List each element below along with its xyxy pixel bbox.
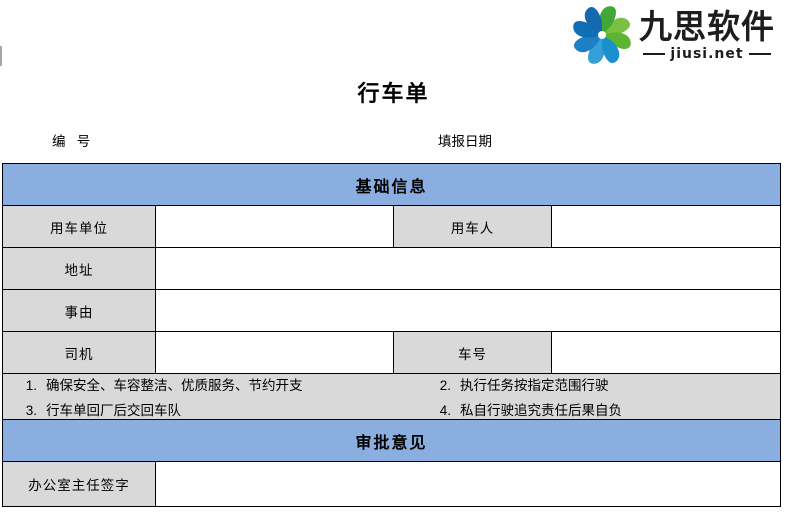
note-item: 3. 行车单回厂后交回车队	[3, 399, 407, 419]
field-office-director-signature[interactable]	[156, 462, 781, 507]
note-text: 执行任务按指定范围行驶	[460, 374, 609, 394]
table-row-reason: 事由	[3, 290, 781, 332]
table-row-driver: 司机 车号	[3, 332, 781, 374]
note-number: 2.	[407, 378, 460, 393]
note-text: 行车单回厂后交回车队	[46, 399, 181, 419]
note-number: 3.	[3, 403, 46, 418]
jiusi-swirl-logo-icon	[571, 6, 633, 64]
label-plate-number: 车号	[394, 332, 552, 374]
table-row-unit: 用车单位 用车人	[3, 206, 781, 248]
table-row-notes: 1. 确保安全、车容整洁、优质服务、节约开支 2. 执行任务按指定范围行驶 3.…	[3, 374, 781, 420]
field-reason[interactable]	[156, 290, 781, 332]
label-driver: 司机	[3, 332, 156, 374]
note-number: 4.	[407, 403, 460, 418]
label-user: 用车人	[394, 206, 552, 248]
basic-info-band-row: 基础信息	[3, 164, 781, 206]
field-plate-number[interactable]	[552, 332, 781, 374]
basic-info-band: 基础信息	[3, 164, 781, 206]
brand-wordmark: 九思软件 jiusi.net	[639, 8, 775, 62]
note-item: 2. 执行任务按指定范围行驶	[407, 374, 780, 394]
brand-domain-text: jiusi.net	[670, 46, 743, 62]
approval-band: 审批意见	[3, 420, 781, 462]
page-margin-tick	[0, 46, 2, 66]
field-driver[interactable]	[156, 332, 394, 374]
note-item: 4. 私自行驶追究责任后果自负	[407, 399, 780, 419]
notes-cell: 1. 确保安全、车容整洁、优质服务、节约开支 2. 执行任务按指定范围行驶 3.…	[3, 374, 781, 420]
field-user[interactable]	[552, 206, 781, 248]
table-row-office-signature: 办公室主任签字	[3, 462, 781, 507]
label-reason: 事由	[3, 290, 156, 332]
label-use-unit: 用车单位	[3, 206, 156, 248]
brand-logo: 九思软件 jiusi.net	[571, 6, 775, 64]
note-text: 确保安全、车容整洁、优质服务、节约开支	[46, 374, 303, 394]
note-text: 私自行驶追究责任后果自负	[460, 399, 622, 419]
form-number-label: 编 号	[52, 130, 90, 150]
notes-grid: 1. 确保安全、车容整洁、优质服务、节约开支 2. 执行任务按指定范围行驶 3.…	[3, 374, 780, 419]
brand-name-cn: 九思软件	[639, 10, 775, 45]
field-address[interactable]	[156, 248, 781, 290]
label-address: 地址	[3, 248, 156, 290]
field-use-unit[interactable]	[156, 206, 394, 248]
document-meta: 编 号 填报日期	[0, 130, 787, 150]
form-date-label: 填报日期	[438, 130, 492, 150]
note-number: 1.	[3, 378, 46, 393]
approval-band-row: 审批意见	[3, 420, 781, 462]
brand-rule-right	[749, 53, 771, 55]
note-item: 1. 确保安全、车容整洁、优质服务、节约开支	[3, 374, 407, 394]
brand-domain: jiusi.net	[639, 46, 775, 62]
driving-form-table: 基础信息 用车单位 用车人 地址 事由 司机 车号 1.	[2, 163, 781, 507]
label-office-director-signature: 办公室主任签字	[3, 462, 156, 507]
page-title: 行车单	[0, 76, 787, 108]
table-row-address: 地址	[3, 248, 781, 290]
brand-rule-left	[643, 53, 665, 55]
